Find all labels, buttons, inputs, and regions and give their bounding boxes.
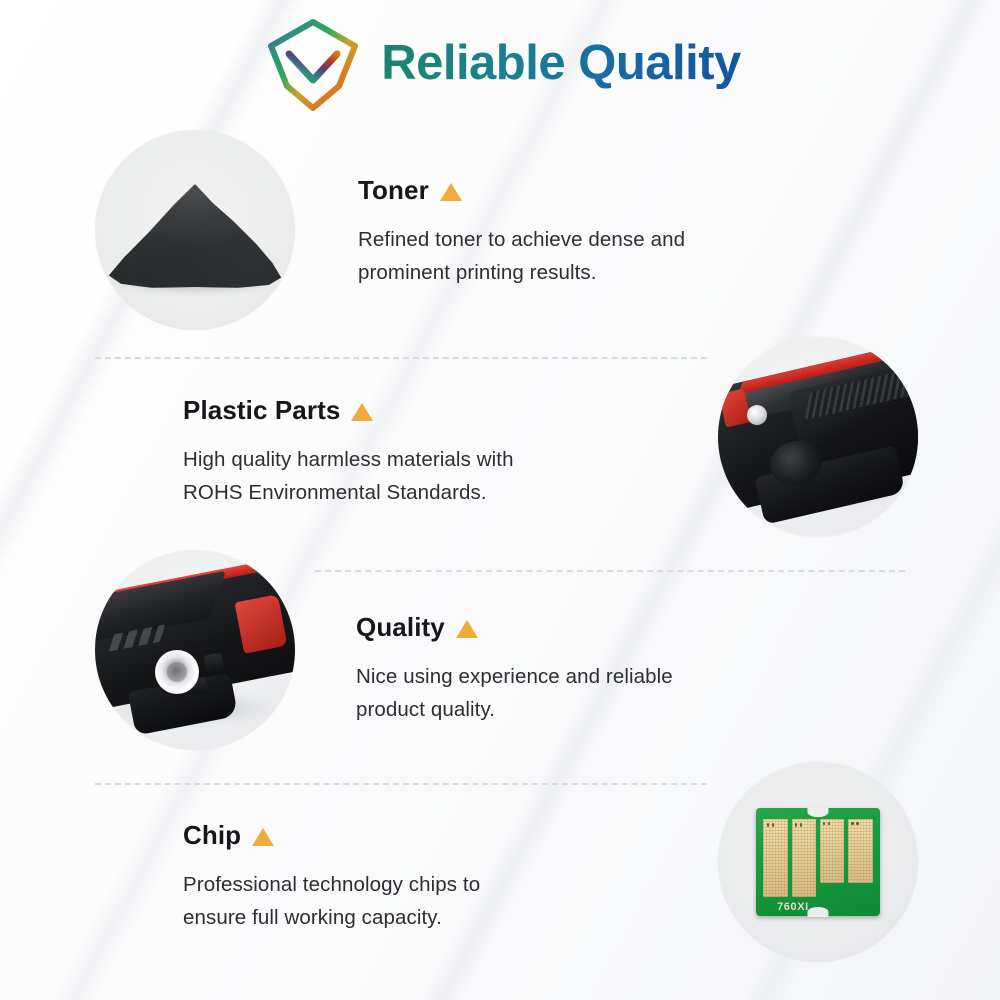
feature-heading-label: Plastic Parts bbox=[183, 395, 340, 426]
powder-texture bbox=[107, 184, 283, 288]
chip-pad bbox=[792, 819, 817, 897]
cartridge-gear-image bbox=[95, 550, 295, 750]
feature-heading-label: Quality bbox=[356, 612, 445, 643]
feature-body-quality: Nice using experience and reliable produ… bbox=[356, 660, 776, 726]
feature-heading-label: Chip bbox=[183, 820, 241, 851]
diamond-check-logo-icon bbox=[259, 14, 367, 114]
cartridge-gear-photo bbox=[95, 550, 295, 750]
page-title: Reliable Quality bbox=[381, 38, 741, 89]
feature-text-plastic-parts: Plastic Parts High quality harmless mate… bbox=[183, 395, 613, 509]
toner-chip-image: 760XI bbox=[718, 762, 918, 962]
toner-chip-photo: 760XI bbox=[718, 762, 918, 962]
toner-powder-image bbox=[95, 130, 295, 330]
cartridge-white-knob bbox=[747, 405, 767, 425]
feature-text-chip: Chip Professional technology chips to en… bbox=[183, 820, 613, 934]
chip-contact-pads bbox=[763, 819, 872, 897]
chip-pcb-board: 760XI bbox=[756, 808, 880, 916]
feature-body-plastic-parts: High quality harmless materials with ROH… bbox=[183, 443, 613, 509]
triangle-bullet-icon bbox=[456, 620, 478, 638]
divider-2 bbox=[315, 570, 905, 572]
feature-text-quality: Quality Nice using experience and reliab… bbox=[356, 612, 776, 726]
feature-body-chip: Professional technology chips to ensure … bbox=[183, 868, 613, 934]
infographic-page: Reliable Quality Toner Refined toner to … bbox=[0, 0, 1000, 1000]
toner-powder-photo bbox=[95, 130, 295, 330]
feature-heading-label: Toner bbox=[358, 175, 429, 206]
triangle-bullet-icon bbox=[252, 828, 274, 846]
feature-text-toner: Toner Refined toner to achieve dense and… bbox=[358, 175, 778, 289]
chip-notch-bottom bbox=[807, 907, 828, 917]
divider-1 bbox=[95, 357, 707, 359]
toner-cartridge-photo bbox=[718, 337, 918, 537]
chip-pad bbox=[848, 819, 873, 883]
feature-heading-plastic-parts: Plastic Parts bbox=[183, 395, 613, 426]
divider-3 bbox=[95, 783, 707, 785]
toner-cartridge-image bbox=[718, 337, 918, 537]
feature-heading-chip: Chip bbox=[183, 820, 613, 851]
chip-part-label: 760XI bbox=[777, 901, 809, 913]
chip-pad bbox=[763, 819, 788, 897]
triangle-bullet-icon bbox=[440, 183, 462, 201]
page-header: Reliable Quality bbox=[0, 8, 1000, 120]
powder-pile bbox=[107, 184, 283, 288]
chip-pad bbox=[820, 819, 845, 883]
feature-body-toner: Refined toner to achieve dense and promi… bbox=[358, 223, 778, 289]
cartridge-post-upper bbox=[203, 652, 224, 673]
cartridge-gear-hub bbox=[155, 650, 199, 694]
feature-heading-quality: Quality bbox=[356, 612, 776, 643]
feature-heading-toner: Toner bbox=[358, 175, 778, 206]
chip-notch-top bbox=[807, 807, 828, 817]
triangle-bullet-icon bbox=[351, 403, 373, 421]
